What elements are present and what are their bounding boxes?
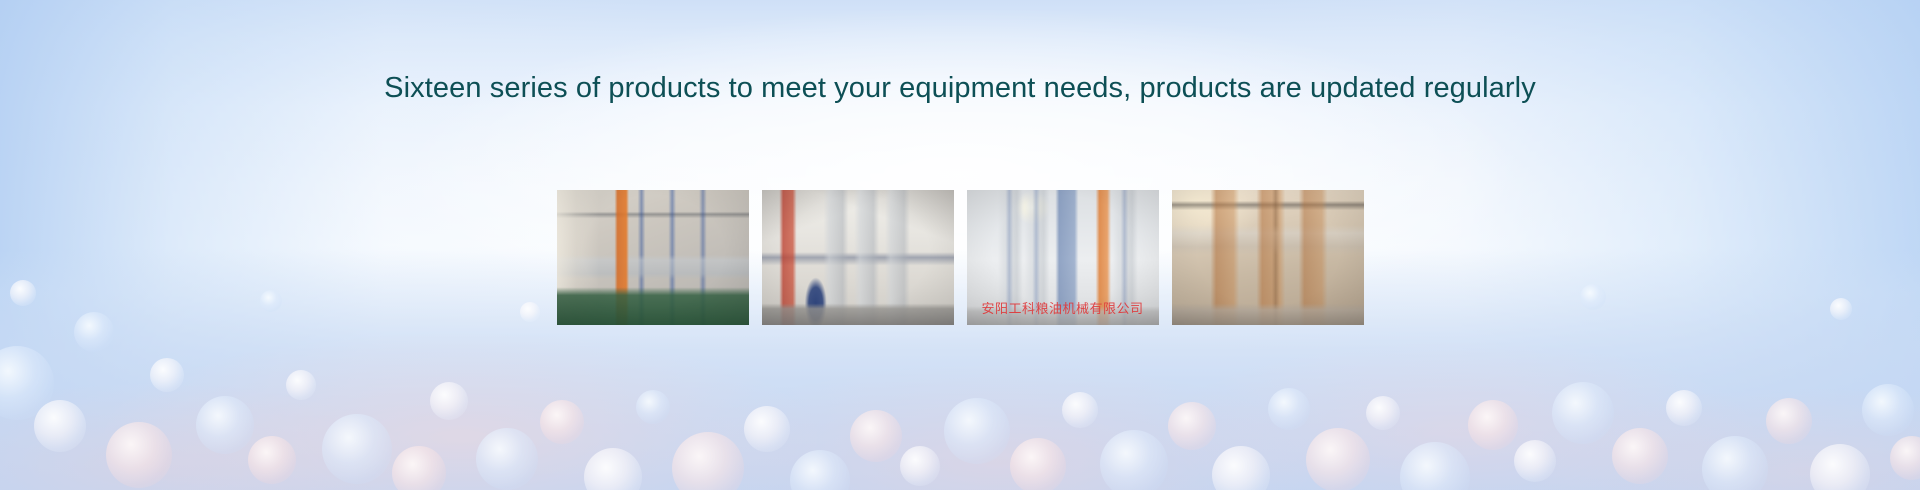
bokeh-circle: [1168, 402, 1216, 450]
bokeh-circle: [106, 422, 172, 488]
bokeh-circle: [286, 370, 316, 400]
copper-tank-refining-plant-image: [1172, 190, 1364, 325]
oil-refinery-production-line-image: [557, 190, 749, 325]
product-thumbnail-4[interactable]: [1172, 190, 1364, 325]
banner-headline: Sixteen series of products to meet your …: [384, 70, 1536, 108]
bokeh-circle: [1100, 430, 1168, 490]
bokeh-circle: [1306, 428, 1370, 490]
bokeh-circle: [744, 406, 790, 452]
bokeh-circle: [1010, 438, 1066, 490]
bokeh-circle: [900, 446, 940, 486]
bokeh-circle: [1268, 388, 1310, 430]
bokeh-circle: [850, 410, 902, 462]
bokeh-circle: [1666, 390, 1702, 426]
bokeh-circle: [540, 400, 584, 444]
bokeh-circle: [944, 398, 1010, 464]
bokeh-circle: [248, 436, 296, 484]
refinery-tank-row-with-worker-image: [762, 190, 954, 325]
bokeh-circle: [34, 400, 86, 452]
product-thumbnail-strip: 安阳工科粮油机械有限公司: [0, 190, 1920, 325]
bokeh-circle: [1862, 384, 1914, 436]
bokeh-circle: [476, 428, 538, 490]
bokeh-circle: [150, 358, 184, 392]
bokeh-circle: [1612, 428, 1668, 484]
bokeh-circle: [322, 414, 392, 484]
bokeh-circle: [1062, 392, 1098, 428]
bokeh-circle: [1366, 396, 1400, 430]
bokeh-circle: [430, 382, 468, 420]
product-thumbnail-3[interactable]: 安阳工科粮油机械有限公司: [967, 190, 1159, 325]
bright-workshop-tank-line-image: [967, 190, 1159, 325]
product-thumbnail-1[interactable]: [557, 190, 749, 325]
bokeh-circle: [1468, 400, 1518, 450]
bokeh-circle: [1514, 440, 1556, 482]
promo-banner: Sixteen series of products to meet your …: [0, 0, 1920, 490]
bokeh-circle: [1552, 382, 1614, 444]
product-thumbnail-2[interactable]: [762, 190, 954, 325]
bokeh-circle: [1766, 398, 1812, 444]
headline-container: Sixteen series of products to meet your …: [0, 70, 1920, 108]
bokeh-circle: [196, 396, 254, 454]
bokeh-circle: [636, 390, 670, 424]
